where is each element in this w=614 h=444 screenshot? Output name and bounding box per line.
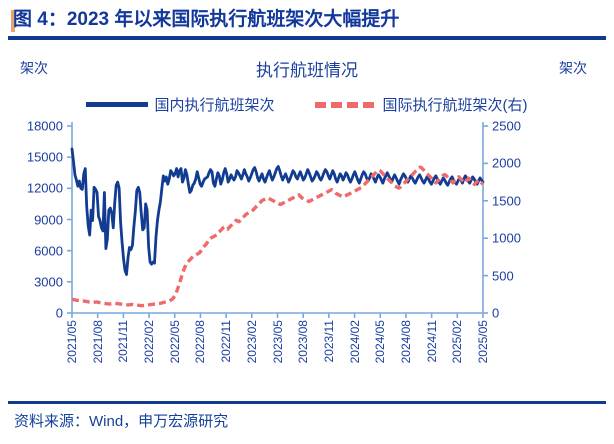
y-axis-left-tick-label: 12000 xyxy=(0,181,63,196)
y-axis-left-tick-label: 15000 xyxy=(0,150,63,165)
x-axis-tick-label: 2024/08 xyxy=(399,320,413,363)
x-axis-tick-label: 2024/11 xyxy=(425,320,439,363)
x-axis-tick-label: 2023/08 xyxy=(296,320,310,363)
x-axis-tick-label: 2021/05 xyxy=(65,320,79,363)
y-axis-right-tick-label: 1500 xyxy=(492,193,521,208)
x-axis-tick-label: 2024/05 xyxy=(373,320,387,363)
x-axis-tick-label: 2025/02 xyxy=(450,320,464,363)
y-axis-left-tick-label: 3000 xyxy=(0,274,63,289)
x-axis-tick-label: 2022/08 xyxy=(193,320,207,363)
figure-header: 图 4：2023 年以来国际执行航班架次大幅提升 xyxy=(0,6,614,36)
y-axis-right-tick-label: 2500 xyxy=(492,119,521,134)
figure-title: 图 4：2023 年以来国际执行航班架次大幅提升 xyxy=(13,6,399,33)
figure-card: 图 4：2023 年以来国际执行航班架次大幅提升 架次 执行航班情况 架次 国内… xyxy=(0,0,614,444)
y-axis-left-tick-label: 18000 xyxy=(0,119,63,134)
x-axis-tick-label: 2022/05 xyxy=(168,320,182,363)
y-axis-right-tick-label: 1000 xyxy=(492,231,521,246)
y-axis-right-tick-label: 500 xyxy=(492,268,514,283)
y-axis-right-tick-label: 0 xyxy=(492,306,499,321)
plot-area: 0300060009000120001500018000050010001500… xyxy=(0,44,614,396)
x-axis-tick-label: 2023/05 xyxy=(271,320,285,363)
source-note: 资料来源：Wind，申万宏源研究 xyxy=(14,410,228,431)
header-divider xyxy=(8,36,606,40)
x-axis-tick-label: 2022/11 xyxy=(219,320,233,363)
y-axis-left-tick-label: 6000 xyxy=(0,243,63,258)
x-axis-tick-label: 2021/11 xyxy=(116,320,130,363)
x-axis-tick-label: 2021/08 xyxy=(91,320,105,363)
chart-container: 架次 执行航班情况 架次 国内执行航班架次 国际执行航班架次(右) 030006… xyxy=(0,44,614,396)
x-axis-tick-label: 2023/02 xyxy=(245,320,259,363)
x-axis-tick-label: 2023/11 xyxy=(322,320,336,363)
footer-divider xyxy=(8,401,606,404)
y-axis-right-tick-label: 2000 xyxy=(492,156,521,171)
x-axis-tick-label: 2022/02 xyxy=(142,320,156,363)
y-axis-left-tick-label: 0 xyxy=(0,306,63,321)
x-axis-tick-label: 2025/05 xyxy=(476,320,490,363)
x-axis-tick-label: 2024/02 xyxy=(348,320,362,363)
y-axis-left-tick-label: 9000 xyxy=(0,212,63,227)
